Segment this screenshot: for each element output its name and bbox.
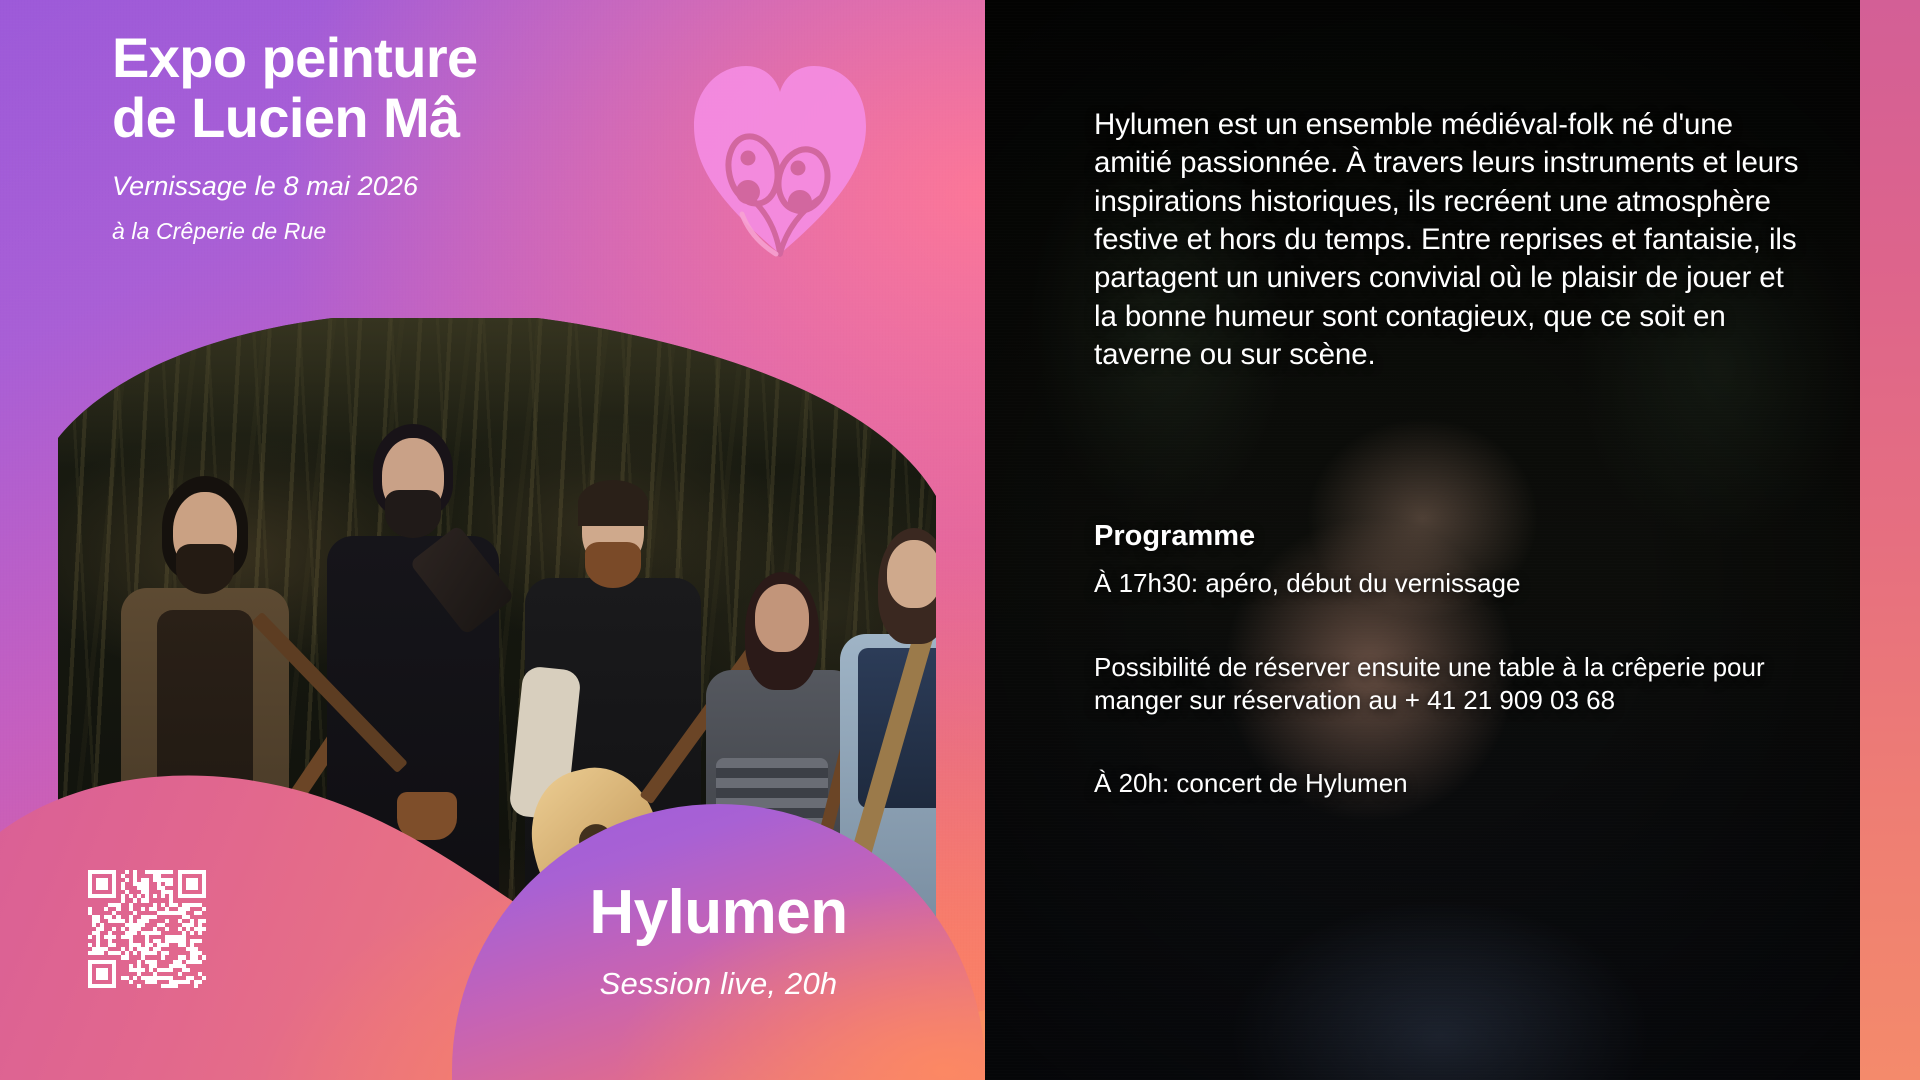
programme-item-0: À 17h30: apéro, début du vernissage (1094, 567, 1814, 600)
poster-root: Expo peinture de Lucien Mâ Vernissage le… (0, 0, 1920, 1080)
venue-name: à la Crêperie de Rue (112, 218, 478, 245)
vernissage-date: Vernissage le 8 mai 2026 (112, 171, 478, 202)
right-panel-content: Hylumen est un ensemble médiéval-folk né… (1094, 0, 1814, 1080)
band-name: Hylumen (589, 882, 847, 944)
title-block: Expo peinture de Lucien Mâ Vernissage le… (112, 28, 478, 245)
right-edge-gradient-strip (1860, 0, 1920, 1080)
programme-item-1: Possibilité de réserver ensuite une tabl… (1094, 651, 1814, 718)
heart-with-leaves-icon (690, 58, 870, 263)
band-description: Hylumen est un ensemble médiéval-folk né… (1094, 106, 1814, 374)
page-title: Expo peinture de Lucien Mâ (112, 28, 478, 149)
programme-item-2: À 20h: concert de Hylumen (1094, 767, 1814, 800)
right-info-panel: Hylumen est un ensemble médiéval-folk né… (985, 0, 1860, 1080)
programme-heading: Programme (1094, 520, 1814, 553)
qr-code[interactable] (88, 870, 206, 988)
left-poster-panel: Expo peinture de Lucien Mâ Vernissage le… (0, 0, 985, 1080)
band-tagline: Session live, 20h (600, 966, 838, 1002)
